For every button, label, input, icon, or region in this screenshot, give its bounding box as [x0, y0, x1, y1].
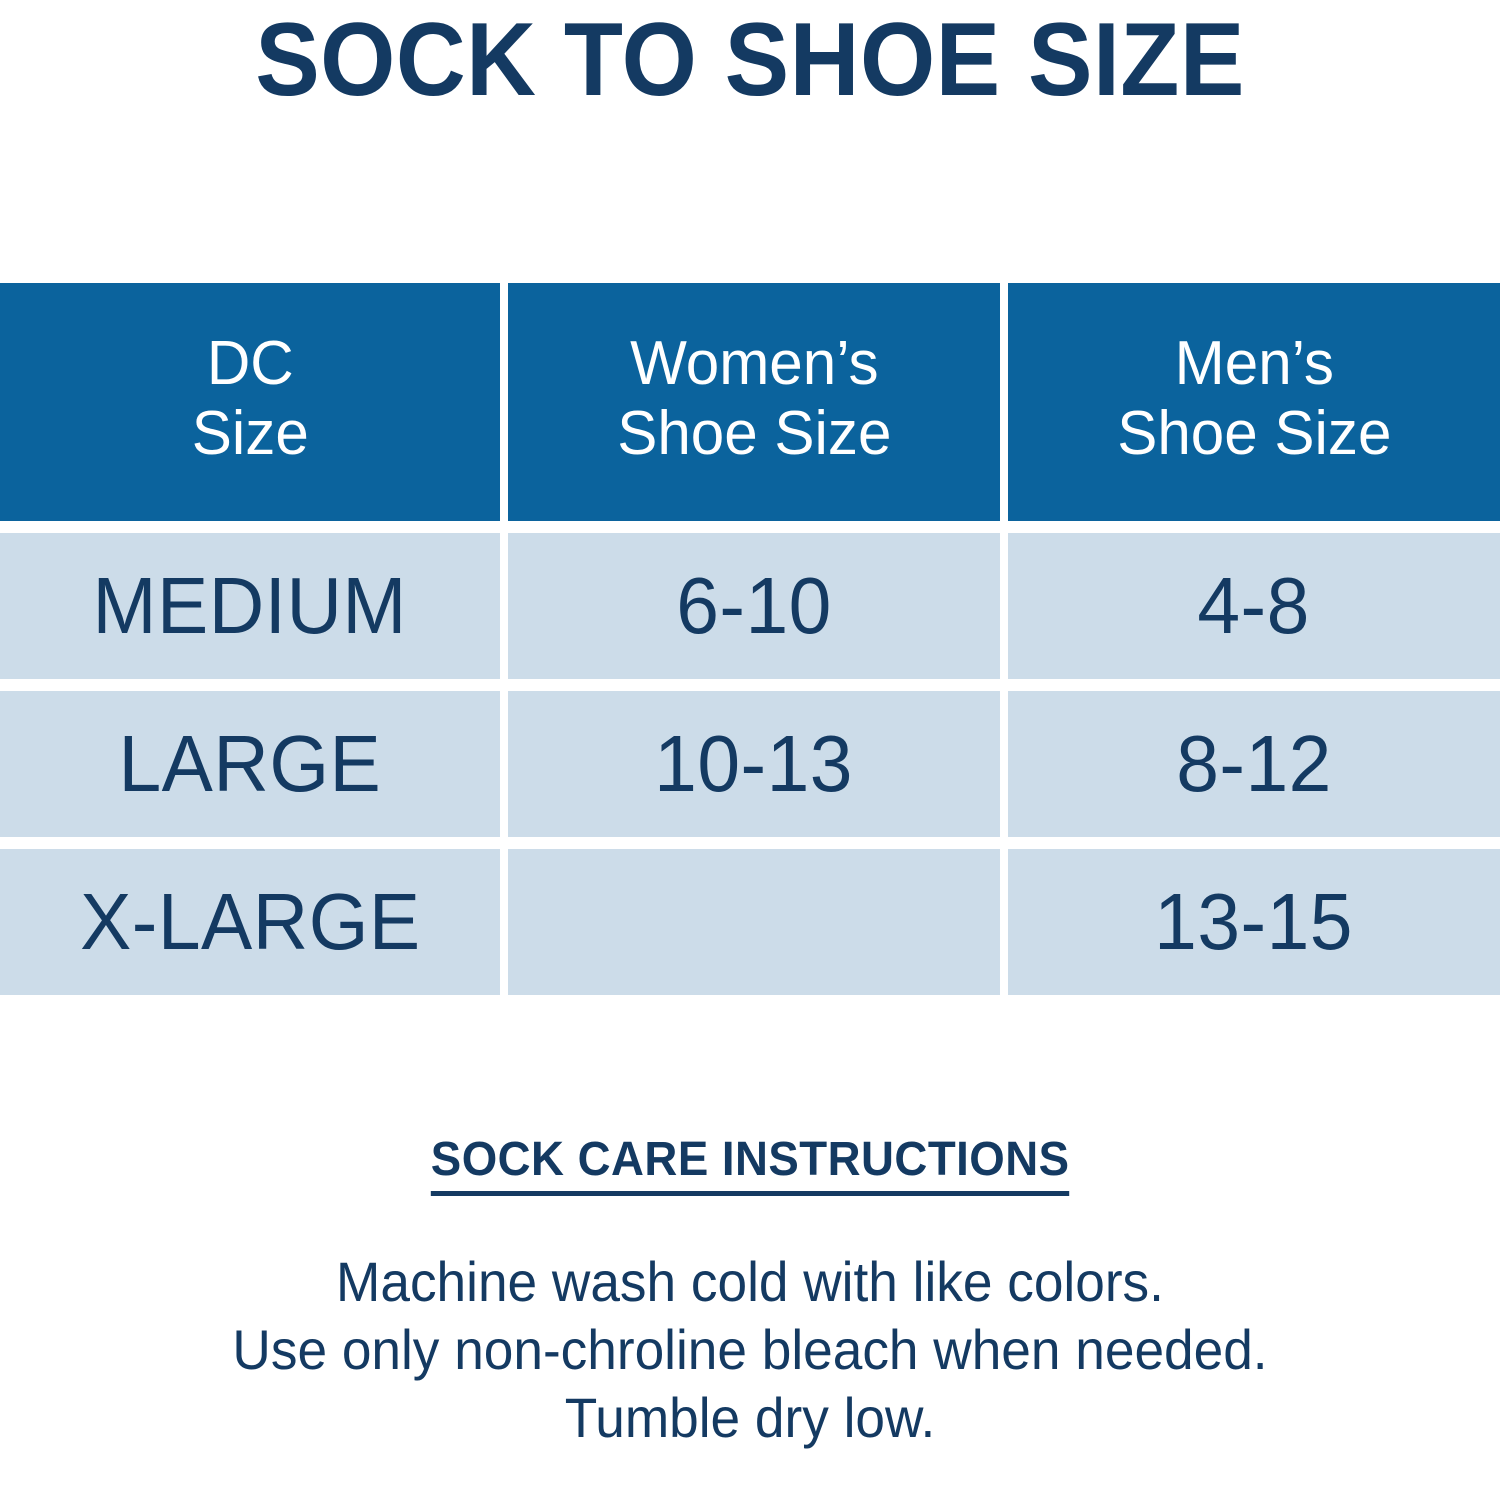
column-header-womens-shoe-size: Women’s Shoe Size: [508, 283, 1000, 521]
cell-mens-shoe-size-text: 13-15: [1155, 878, 1354, 966]
column-header-mens-shoe-size-line1: Men’s: [1117, 329, 1391, 399]
sock-to-shoe-size-table: DC Size Women’s Shoe Size Men’s Shoe Siz…: [0, 283, 1500, 995]
table-grid: DC Size Women’s Shoe Size Men’s Shoe Siz…: [0, 283, 1500, 995]
column-header-mens-shoe-size-line2: Shoe Size: [1117, 399, 1391, 469]
cell-mens-shoe-size-text: 8-12: [1176, 720, 1332, 808]
column-header-dc-size-text: DC Size: [190, 329, 311, 469]
cell-dc-size: MEDIUM: [0, 533, 500, 679]
care-line: Tumble dry low.: [38, 1384, 1463, 1452]
column-header-womens-shoe-size-line2: Shoe Size: [617, 399, 891, 469]
cell-womens-shoe-size-text: 10-13: [655, 720, 854, 808]
cell-womens-shoe-size: 6-10: [508, 533, 1000, 679]
cell-dc-size-text: LARGE: [119, 720, 382, 808]
column-header-mens-shoe-size: Men’s Shoe Size: [1008, 283, 1500, 521]
table-row: X-LARGE 13-15: [0, 849, 1500, 995]
cell-mens-shoe-size: 13-15: [1008, 849, 1500, 995]
sock-care-instructions-lines: Machine wash cold with like colors. Use …: [0, 1248, 1500, 1452]
cell-dc-size: X-LARGE: [0, 849, 500, 995]
cell-mens-shoe-size: 8-12: [1008, 691, 1500, 837]
cell-womens-shoe-size: [508, 849, 1000, 995]
size-chart-page: SOCK TO SHOE SIZE DC Size Women’s Shoe S…: [0, 0, 1500, 1500]
column-header-dc-size-line1: DC: [191, 329, 308, 399]
column-header-womens-shoe-size-text: Women’s Shoe Size: [613, 329, 896, 469]
cell-mens-shoe-size-text: 4-8: [1198, 562, 1310, 650]
cell-dc-size-text: X-LARGE: [80, 878, 421, 966]
page-title: SOCK TO SHOE SIZE: [53, 4, 1448, 116]
care-line: Machine wash cold with like colors.: [38, 1248, 1463, 1316]
sock-care-instructions-section: SOCK CARE INSTRUCTIONS Machine wash cold…: [0, 1132, 1500, 1452]
table-header-row: DC Size Women’s Shoe Size Men’s Shoe Siz…: [0, 283, 1500, 521]
care-line: Use only non-chroline bleach when needed…: [38, 1316, 1463, 1384]
column-header-dc-size-line2: Size: [191, 399, 308, 469]
cell-mens-shoe-size: 4-8: [1008, 533, 1500, 679]
sock-care-instructions-heading: SOCK CARE INSTRUCTIONS: [431, 1132, 1070, 1196]
column-header-mens-shoe-size-text: Men’s Shoe Size: [1113, 329, 1396, 469]
table-row: LARGE 10-13 8-12: [0, 691, 1500, 837]
cell-womens-shoe-size: 10-13: [508, 691, 1000, 837]
cell-dc-size: LARGE: [0, 691, 500, 837]
cell-dc-size-text: MEDIUM: [93, 562, 407, 650]
table-row: MEDIUM 6-10 4-8: [0, 533, 1500, 679]
column-header-womens-shoe-size-line1: Women’s: [617, 329, 891, 399]
column-header-dc-size: DC Size: [0, 283, 500, 521]
cell-womens-shoe-size-text: 6-10: [676, 562, 832, 650]
